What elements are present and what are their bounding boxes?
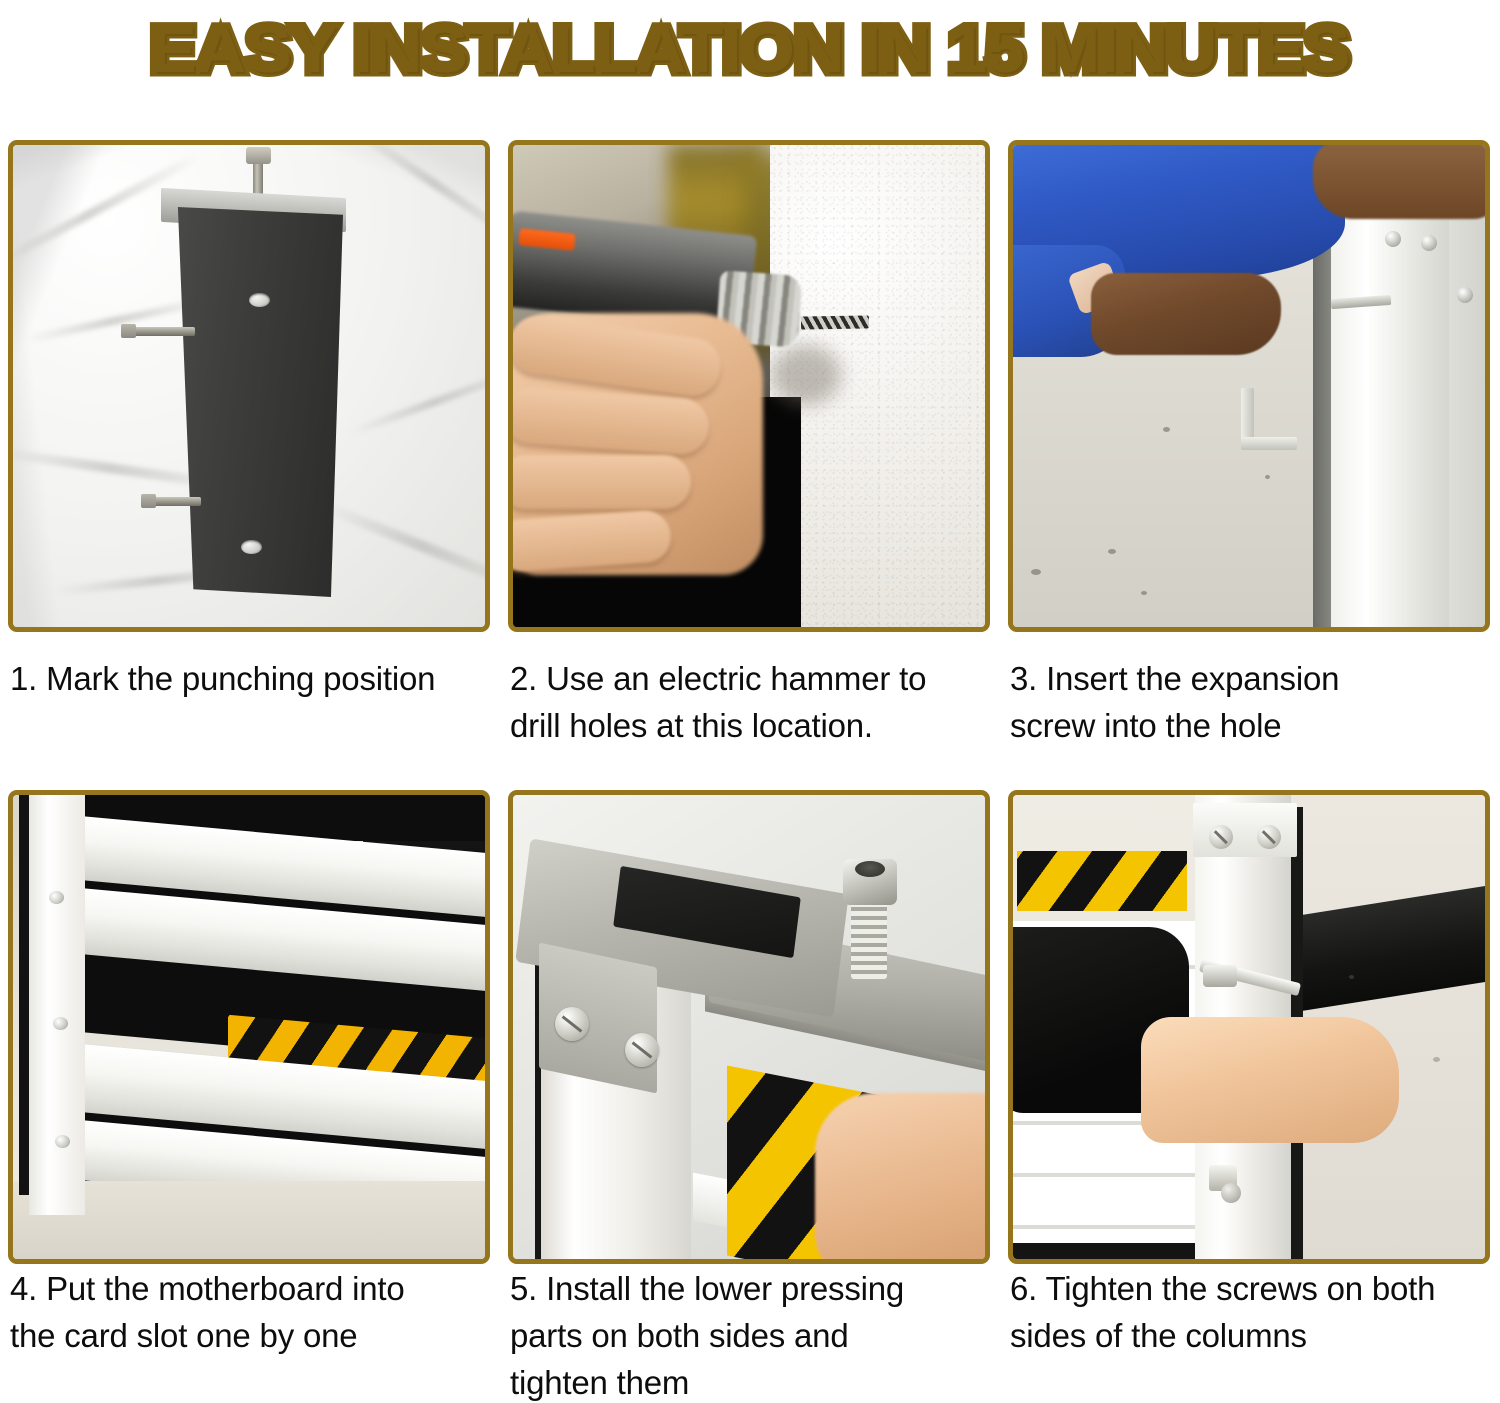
step-1-photo-cell: [0, 128, 500, 648]
scene-column-post: [13, 145, 485, 627]
step-3-photo-frame: [1008, 140, 1490, 632]
step-2-photo-cell: [500, 128, 1000, 648]
step-5-caption-cell: 5. Install the lower pressing parts on b…: [500, 1258, 1000, 1403]
step-1-caption-cell: 1. Mark the punching position: [0, 648, 500, 778]
step-5-photo-frame: [508, 790, 990, 1264]
installation-guide-page: EASY INSTALLATION IN 15 MINUTES: [0, 0, 1500, 1403]
scene-pressing-bracket: [513, 795, 985, 1259]
page-title: EASY INSTALLATION IN 15 MINUTES: [150, 16, 1349, 82]
step-5-photo-cell: [500, 778, 1000, 1258]
scene-motherboard-slots: [13, 795, 485, 1259]
step-4-photo-frame: [8, 790, 490, 1264]
step-2-caption: 2. Use an electric hammer to drill holes…: [510, 656, 988, 750]
step-6-photo-cell: [1000, 778, 1500, 1258]
title-banner: EASY INSTALLATION IN 15 MINUTES: [0, 0, 1500, 98]
step-3-caption: 3. Insert the expansion screw into the h…: [1010, 656, 1488, 750]
step-3-photo-cell: [1000, 128, 1500, 648]
step-4-photo-cell: [0, 778, 500, 1258]
scene-expansion-screw: [1013, 145, 1485, 627]
step-2-photo-frame: [508, 140, 990, 632]
step-5-caption: 5. Install the lower pressing parts on b…: [510, 1266, 988, 1403]
step-6-photo-frame: [1008, 790, 1490, 1264]
step-2-caption-cell: 2. Use an electric hammer to drill holes…: [500, 648, 1000, 778]
scene-tighten-screws: [1013, 795, 1485, 1259]
step-1-caption: 1. Mark the punching position: [10, 656, 488, 703]
step-4-caption-cell: 4. Put the motherboard into the card slo…: [0, 1258, 500, 1403]
step-6-caption: 6. Tighten the screws on both sides of t…: [1010, 1266, 1488, 1360]
step-6-caption-cell: 6. Tighten the screws on both sides of t…: [1000, 1258, 1500, 1403]
steps-grid: 1. Mark the punching position 2. Use an …: [0, 128, 1500, 1403]
step-4-caption: 4. Put the motherboard into the card slo…: [10, 1266, 488, 1360]
step-3-caption-cell: 3. Insert the expansion screw into the h…: [1000, 648, 1500, 778]
step-1-photo-frame: [8, 140, 490, 632]
scene-drilling-wall: [513, 145, 985, 627]
